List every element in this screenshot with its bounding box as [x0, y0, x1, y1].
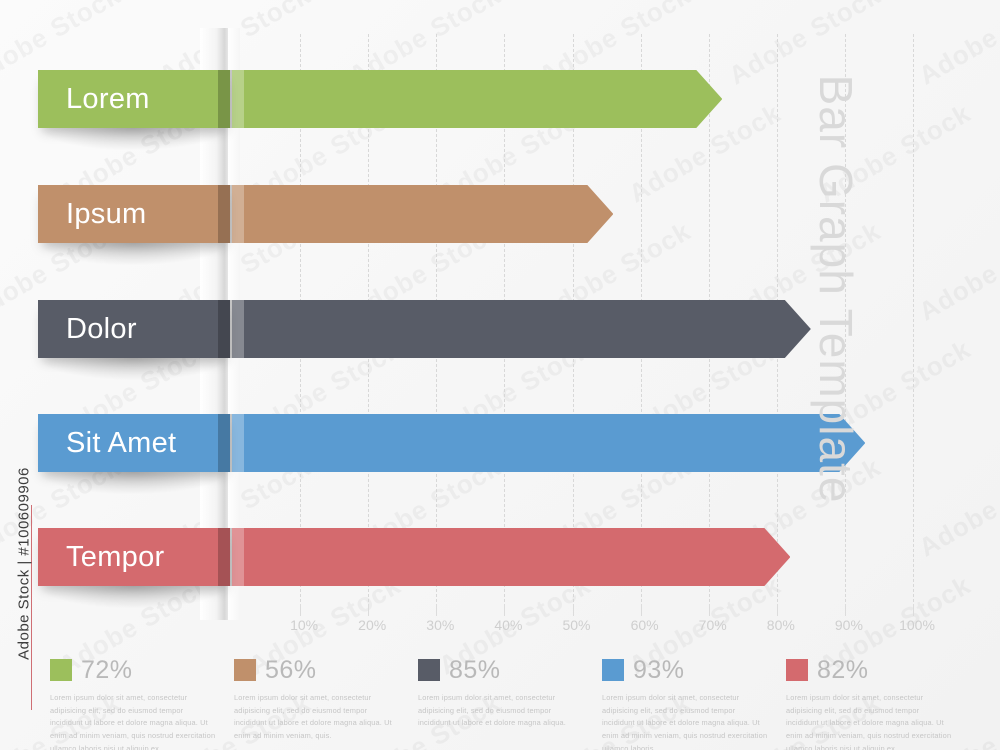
axis-tick: [300, 604, 301, 616]
legend-description: Lorem ipsum dolor sit amet, consectetur …: [418, 692, 586, 730]
legend-percent: 82%: [817, 658, 869, 683]
bar-value-arrow[interactable]: [232, 300, 811, 358]
bar-fold-highlight: [232, 185, 244, 243]
plate-shadow: [40, 243, 226, 265]
bar-label-text: Dolor: [38, 300, 230, 358]
legend-description: Lorem ipsum dolor sit amet, consectetur …: [50, 692, 218, 750]
plate-shadow: [40, 358, 226, 380]
legend-description: Lorem ipsum dolor sit amet, consectetur …: [602, 692, 770, 750]
bar-fill: [232, 70, 722, 128]
bar-fold-crease: [218, 70, 232, 128]
axis-tick: [504, 604, 505, 616]
axis-tick-label: 70%: [699, 617, 727, 633]
legend-percent: 56%: [265, 658, 317, 683]
template-title-watermark: Bar Graph Template: [809, 29, 863, 549]
legend-item[interactable]: 56%Lorem ipsum dolor sit amet, consectet…: [234, 655, 402, 747]
axis-tick-label: 20%: [358, 617, 386, 633]
axis-tick: [709, 604, 710, 616]
legend-header: 93%: [602, 655, 770, 685]
bar-graph-template: Adobe StockAdobe StockAdobe StockAdobe S…: [0, 0, 1000, 750]
axis-tick-label: 30%: [426, 617, 454, 633]
bar-value-arrow[interactable]: [232, 185, 613, 243]
bar-label-text: Lorem: [38, 70, 230, 128]
bar-value-arrow[interactable]: [232, 414, 865, 472]
legend-header: 82%: [786, 655, 954, 685]
bar-fold-crease: [218, 528, 232, 586]
legend-header: 56%: [234, 655, 402, 685]
bar-fold-crease: [218, 414, 232, 472]
legend-item[interactable]: 72%Lorem ipsum dolor sit amet, consectet…: [50, 655, 218, 747]
legend: 72%Lorem ipsum dolor sit amet, consectet…: [50, 655, 970, 747]
bar-fill: [232, 528, 790, 586]
axis-tick: [368, 604, 369, 616]
legend-item[interactable]: 82%Lorem ipsum dolor sit amet, consectet…: [786, 655, 954, 747]
bar-fold-highlight: [232, 528, 244, 586]
legend-item[interactable]: 93%Lorem ipsum dolor sit amet, consectet…: [602, 655, 770, 747]
bar-label-plate[interactable]: Tempor: [38, 528, 230, 586]
bar-fill: [232, 414, 865, 472]
bar-fold-highlight: [232, 300, 244, 358]
bar-label-plate[interactable]: Lorem: [38, 70, 230, 128]
x-axis: 10%20%30%40%50%60%70%80%90%100%: [0, 604, 1000, 638]
legend-percent: 93%: [633, 658, 685, 683]
plate-shadow: [40, 472, 226, 494]
axis-tick-label: 100%: [899, 617, 935, 633]
axis-tick-label: 90%: [835, 617, 863, 633]
axis-tick-label: 60%: [631, 617, 659, 633]
legend-header: 85%: [418, 655, 586, 685]
bar-value-arrow[interactable]: [232, 528, 790, 586]
bar-fold-crease: [218, 300, 232, 358]
axis-tick: [573, 604, 574, 616]
axis-tick-label: 10%: [290, 617, 318, 633]
axis-tick: [845, 604, 846, 616]
legend-color-swatch: [418, 659, 440, 681]
bar-fill: [232, 185, 613, 243]
axis-tick-label: 50%: [562, 617, 590, 633]
bar-label-text: Sit Amet: [38, 414, 230, 472]
axis-tick: [777, 604, 778, 616]
legend-description: Lorem ipsum dolor sit amet, consectetur …: [786, 692, 954, 750]
bar-label-plate[interactable]: Ipsum: [38, 185, 230, 243]
axis-tick: [641, 604, 642, 616]
stock-credit-label: Adobe Stock | #100609906: [16, 454, 33, 674]
bar-fold-highlight: [232, 70, 244, 128]
plate-shadow: [40, 128, 226, 150]
axis-tick-label: 80%: [767, 617, 795, 633]
bar-label-text: Tempor: [38, 528, 230, 586]
bar-label-plate[interactable]: Dolor: [38, 300, 230, 358]
legend-item[interactable]: 85%Lorem ipsum dolor sit amet, consectet…: [418, 655, 586, 747]
bar-label-text: Ipsum: [38, 185, 230, 243]
legend-color-swatch: [50, 659, 72, 681]
legend-color-swatch: [602, 659, 624, 681]
bar-fold-highlight: [232, 414, 244, 472]
axis-tick-label: 40%: [494, 617, 522, 633]
legend-description: Lorem ipsum dolor sit amet, consectetur …: [234, 692, 402, 743]
bar-fold-crease: [218, 185, 232, 243]
legend-color-swatch: [786, 659, 808, 681]
legend-percent: 72%: [81, 658, 133, 683]
legend-header: 72%: [50, 655, 218, 685]
legend-percent: 85%: [449, 658, 501, 683]
axis-tick: [436, 604, 437, 616]
bar-fill: [232, 300, 811, 358]
legend-color-swatch: [234, 659, 256, 681]
axis-tick: [913, 604, 914, 616]
bar-value-arrow[interactable]: [232, 70, 722, 128]
bar-label-plate[interactable]: Sit Amet: [38, 414, 230, 472]
